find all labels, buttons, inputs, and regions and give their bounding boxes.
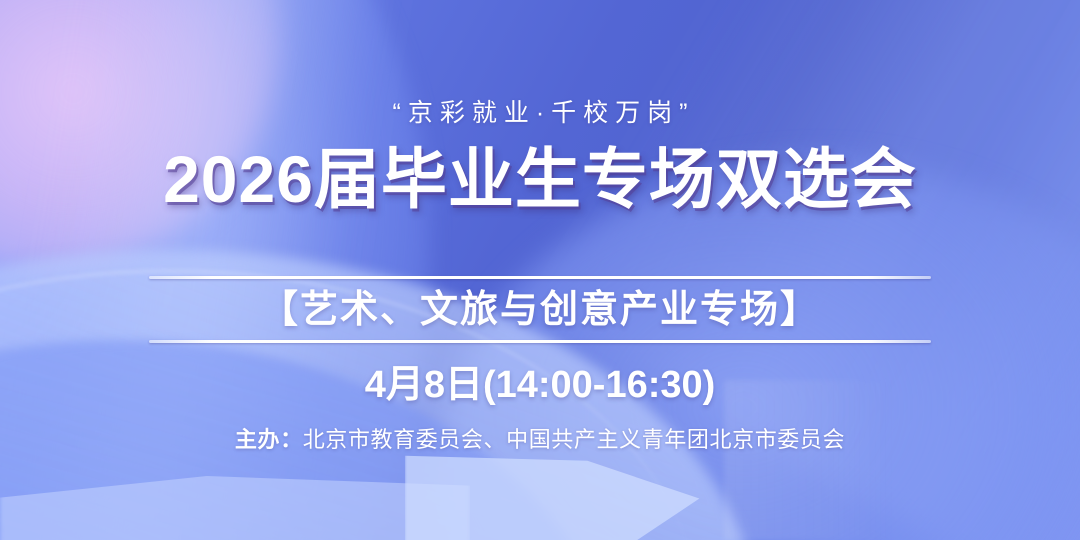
campaign-tagline: “京彩就业·千校万岗”: [386, 101, 695, 126]
organizer-value: 北京市教育委员会、中国共产主义青年团北京市委员会: [303, 427, 845, 452]
event-datetime: 4月8日(14:00-16:30): [365, 366, 716, 404]
poster-subtitle: 【艺术、文旅与创意产业专场】: [260, 279, 820, 340]
divider-bottom: [149, 340, 931, 343]
poster-title: 2026届毕业生专场双选会: [163, 146, 917, 212]
organizer-label: 主办：: [235, 427, 303, 452]
poster-content: “京彩就业·千校万岗” 2026届毕业生专场双选会 【艺术、文旅与创意产业专场】…: [0, 0, 1080, 540]
subtitle-block: 【艺术、文旅与创意产业专场】: [149, 276, 931, 343]
organizer-line: 主办：北京市教育委员会、中国共产主义青年团北京市委员会: [235, 429, 845, 451]
event-poster: “京彩就业·千校万岗” 2026届毕业生专场双选会 【艺术、文旅与创意产业专场】…: [0, 0, 1080, 540]
